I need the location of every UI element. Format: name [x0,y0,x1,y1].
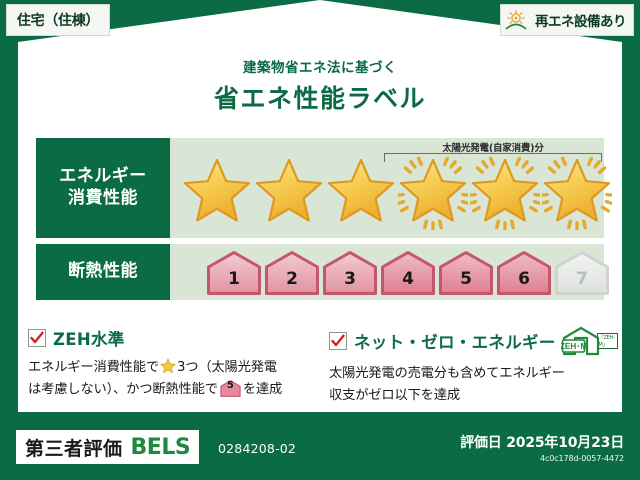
building-type-badge: 住宅（住棟） [6,4,110,36]
house-badge-number: 5 [220,378,241,394]
insulation-level-7: 7 [554,250,610,296]
criterion-net-zero-body: 太陽光発電の売電分も含めてエネルギー 収支がゼロ以下を達成 [329,363,618,406]
star-icon [326,154,396,230]
energy-label-line1: エネルギー [59,166,147,188]
star-icon [254,154,324,230]
building-type-label: 住宅（住棟） [17,10,99,30]
renewable-badge-label: 再エネ設備あり [535,10,626,30]
insulation-level-2: 2 [264,250,320,296]
energy-performance-row: エネルギー 消費性能 太陽光発電(自家消費)分 [36,138,604,238]
criterion-net-zero-title: ネット・ゼロ・エネルギー [354,329,556,353]
zeh-text-part3: は考慮しない）、かつ断熱性能で [28,382,218,397]
net-zero-checkbox[interactable] [329,332,347,350]
insulation-label-text: 断熱性能 [68,261,138,283]
star-rating [182,154,612,230]
title-main: 省エネ性能ラベル [0,79,640,115]
insulation-performance-label: 断熱性能 [36,244,170,300]
insulation-level-6: 6 [496,250,552,296]
house-badge-icon: 5 [220,380,241,397]
footer-right-block: 評価日 2025年10月23日 4c0c178d-0057-4472 [460,432,624,463]
criterion-zeh: ZEH水準 エネルギー消費性能で3つ（太陽光発電 は考慮しない）、かつ断熱性能で… [28,326,317,406]
star-icon-solar [470,154,540,230]
renewable-equipment-badge: 再エネ設備あり [500,4,634,36]
zeh-text-part1: エネルギー消費性能で [28,360,159,375]
zeh-text-part4: を達成 [243,382,282,397]
insulation-level-scale: 1234567 [206,250,610,296]
bels-badge: 第三者評価 BELS [16,430,199,464]
net-zero-text-part1: 太陽光発電の売電分も含めてエネルギー [329,366,565,381]
check-icon [331,334,345,348]
criterion-zeh-body: エネルギー消費性能で3つ（太陽光発電 は考慮しない）、かつ断熱性能で5を達成 [28,357,317,400]
label-title-block: 建築物省エネ法に基づく 省エネ性能ラベル [0,56,640,115]
evaluation-uid: 4c0c178d-0057-4472 [460,454,624,463]
star-icon [160,358,176,374]
insulation-rating-area: 1234567 [170,244,604,300]
zeh-m-logo-icon: ZEH･M [561,326,589,356]
bels-jp-label: 第三者評価 [25,434,123,461]
zeh-text-part2: 3つ（太陽光発電 [177,360,277,375]
check-icon [30,331,44,345]
evaluation-date: 評価日 2025年10月23日 [460,432,624,452]
insulation-level-5: 5 [438,250,494,296]
insulation-level-4: 4 [380,250,436,296]
sun-icon [505,9,531,31]
net-zero-text-part2: 収支がゼロ以下を達成 [329,388,460,403]
insulation-level-number: 2 [264,269,320,289]
certificate-number: 0284208-02 [218,441,296,456]
bels-en-label: BELS [131,435,191,460]
insulation-performance-row: 断熱性能 1234567 [36,244,604,300]
performance-rows: エネルギー 消費性能 太陽光発電(自家消費)分 断熱性能 1234567 [36,138,604,306]
zeh-checkbox[interactable] [28,329,46,347]
insulation-level-number: 7 [554,269,610,289]
star-icon-solar [542,154,612,230]
criterion-net-zero: ネット・ゼロ・エネルギーZEH･M「ZEH-M」 太陽光発電の売電分も含めてエネ… [329,326,618,406]
energy-label-line2: 消費性能 [59,188,147,210]
insulation-level-1: 1 [206,250,262,296]
energy-performance-label: 住宅（住棟） 再エネ設備あり 建築物省エネ法に基づく 省エネ性能ラベル [0,0,640,480]
criterion-zeh-title: ZEH水準 [53,326,125,350]
svg-text:ZEH･M: ZEH･M [561,342,587,351]
insulation-level-number: 1 [206,269,262,289]
insulation-level-number: 5 [438,269,494,289]
title-subtitle: 建築物省エネ法に基づく [0,56,640,76]
criterion-net-zero-header: ネット・ゼロ・エネルギーZEH･M「ZEH-M」 [329,326,618,356]
star-icon-solar [398,154,468,230]
star-icon [182,154,252,230]
insulation-level-number: 3 [322,269,378,289]
zeh-m-house-shape: ZEH･M [561,326,601,356]
insulation-level-number: 6 [496,269,552,289]
energy-performance-label: エネルギー 消費性能 [36,138,170,238]
label-footer: 第三者評価 BELS 0284208-02 評価日 2025年10月23日 4c… [0,412,640,480]
insulation-level-3: 3 [322,250,378,296]
criterion-zeh-header: ZEH水準 [28,326,317,350]
insulation-level-number: 4 [380,269,436,289]
criteria-section: ZEH水準 エネルギー消費性能で3つ（太陽光発電 は考慮しない）、かつ断熱性能で… [28,326,618,406]
solar-annotation-text: 太陽光発電(自家消費)分 [384,140,602,154]
energy-rating-area: 太陽光発電(自家消費)分 [170,138,604,238]
